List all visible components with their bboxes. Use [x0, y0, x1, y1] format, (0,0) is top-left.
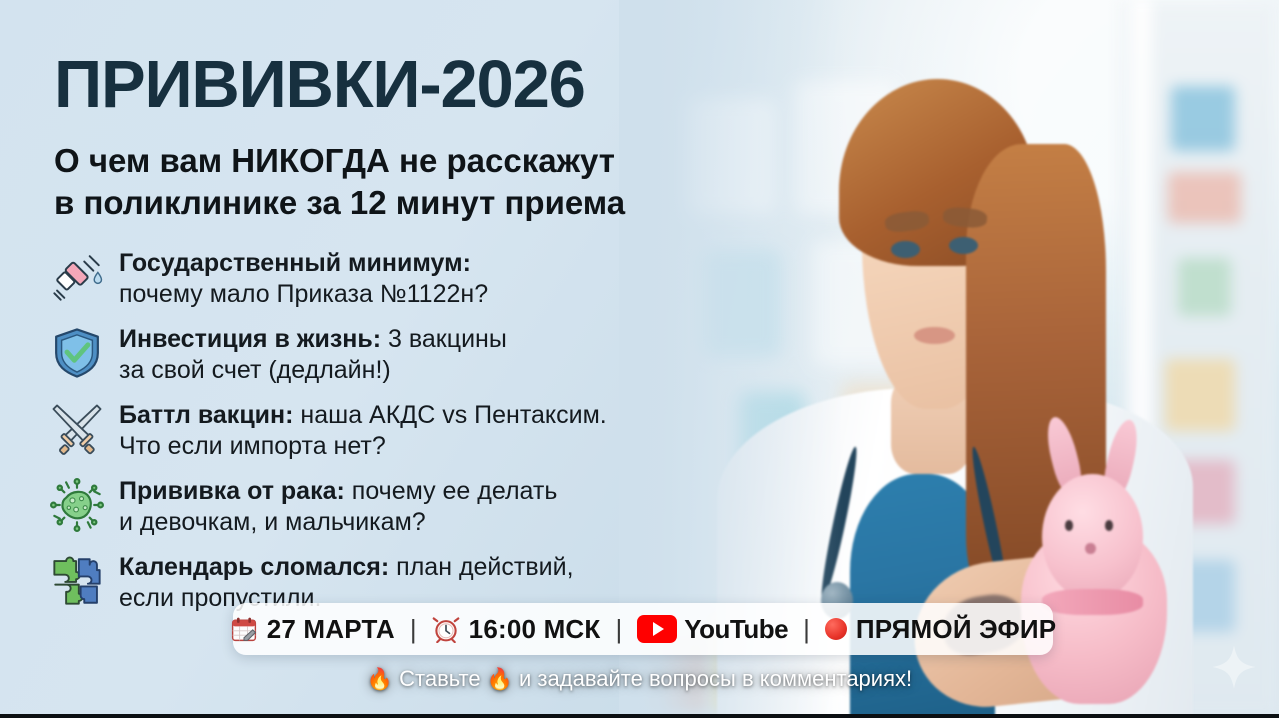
banner-live-label: ПРЯМОЙ ЭФИР	[856, 614, 1056, 645]
poster-content: ПРИВИВКИ-2026 О чем вам НИКОГДА не расск…	[0, 0, 1279, 718]
fire-icon-left: 🔥	[367, 668, 393, 691]
calendar-icon	[230, 615, 258, 643]
syringe-icon	[48, 248, 106, 306]
banner-time: 16:00 МСК	[432, 614, 601, 645]
list-item-lead: Прививка от рака:	[119, 477, 345, 505]
list-item-rest: план действий,	[389, 553, 573, 581]
list-item-line2: и девочкам, и мальчикам?	[119, 507, 557, 538]
list-item-line2: Что если импорта нет?	[119, 431, 607, 462]
event-banner: 27 МАРТА | 16:00 МСК | YouTube	[233, 603, 1053, 655]
youtube-wordmark: YouTube	[684, 614, 788, 645]
list-item-text: Инвестиция в жизнь: 3 вакцины за свой сч…	[119, 322, 507, 386]
puzzle-icon	[48, 552, 106, 610]
alarm-clock-icon	[432, 615, 460, 643]
banner-date: 27 МАРТА	[230, 614, 395, 645]
list-item-lead: Календарь сломался:	[119, 553, 389, 581]
youtube-play-badge	[637, 615, 677, 643]
list-item: Инвестиция в жизнь: 3 вакцины за свой сч…	[48, 322, 678, 386]
topic-list: Государственный минимум: почему мало При…	[48, 246, 678, 626]
banner-separator: |	[803, 614, 810, 645]
list-item-lead: Баттл вакцин:	[119, 401, 293, 429]
list-item-line2: за свой счет (дедлайн!)	[119, 355, 507, 386]
banner-separator: |	[615, 614, 622, 645]
youtube-icon[interactable]: YouTube	[637, 614, 788, 645]
list-item: Баттл вакцин: наша АКДС vs Пентаксим. Чт…	[48, 398, 678, 462]
banner-separator: |	[410, 614, 417, 645]
list-item-lead: Инвестиция в жизнь:	[119, 325, 381, 353]
sparkle-icon	[1211, 644, 1257, 690]
fire-icon-right: 🔥	[487, 668, 513, 691]
crossed-swords-icon	[48, 400, 106, 458]
list-item: Государственный минимум: почему мало При…	[48, 246, 678, 310]
bottom-strip	[0, 714, 1279, 718]
banner-time-label: 16:00 МСК	[469, 614, 601, 645]
page-title: ПРИВИВКИ-2026	[54, 52, 585, 118]
list-item-lead: Государственный минимум:	[119, 249, 471, 277]
list-item-rest: почему ее делать	[345, 477, 558, 505]
subtitle-line-1: О чем вам НИКОГДА не расскажут	[54, 140, 625, 182]
list-item: Прививка от рака: почему ее делать и дев…	[48, 474, 678, 538]
list-item-rest: наша АКДС vs Пентаксим.	[293, 401, 606, 429]
list-item-rest: 3 вакцины	[381, 325, 507, 353]
banner-date-label: 27 МАРТА	[267, 614, 395, 645]
list-item-line2: почему мало Приказа №1122н?	[119, 279, 488, 310]
red-record-dot-icon	[825, 618, 847, 640]
footnote-text-a: Ставьте	[399, 666, 480, 691]
footnote-text-b: и задавайте вопросы в комментариях!	[519, 666, 912, 691]
list-item-text: Государственный минимум: почему мало При…	[119, 246, 488, 310]
banner-live: ПРЯМОЙ ЭФИР	[825, 614, 1056, 645]
list-item-text: Баттл вакцин: наша АКДС vs Пентаксим. Чт…	[119, 398, 607, 462]
subtitle: О чем вам НИКОГДА не расскажут в поликли…	[54, 140, 625, 224]
list-item-text: Прививка от рака: почему ее делать и дев…	[119, 474, 557, 538]
play-triangle-icon	[653, 622, 664, 636]
subtitle-line-2: в поликлинике за 12 минут приема	[54, 182, 625, 224]
shield-check-icon	[48, 324, 106, 382]
comment-callout: 🔥 Ставьте 🔥 и задавайте вопросы в коммен…	[0, 666, 1279, 692]
virus-icon	[48, 476, 106, 534]
poster: ПРИВИВКИ-2026 О чем вам НИКОГДА не расск…	[0, 0, 1279, 718]
